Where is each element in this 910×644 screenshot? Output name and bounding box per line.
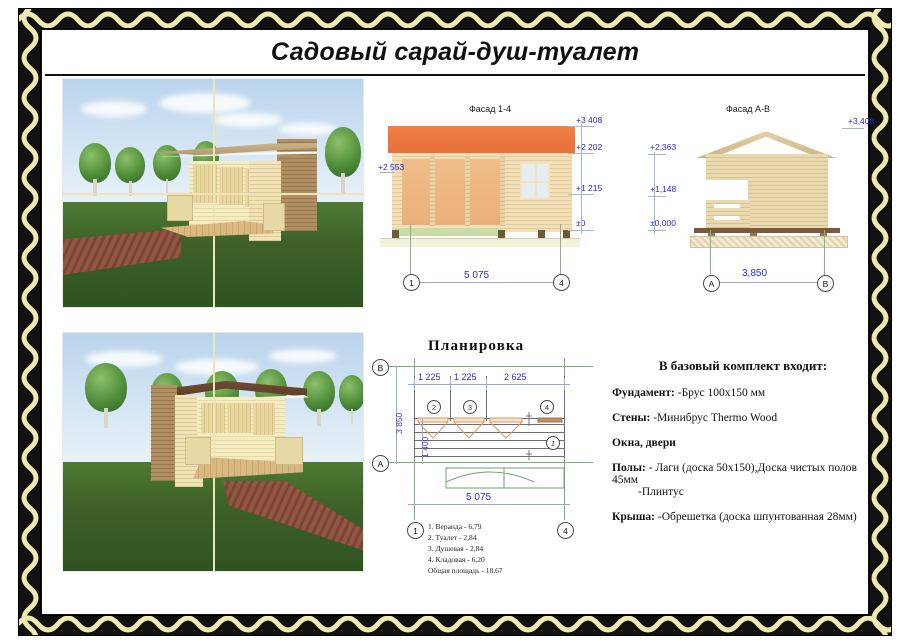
elevation-leader — [648, 154, 666, 155]
facade-ab-wall-main — [748, 154, 828, 232]
facade-1-4-door-1 — [402, 159, 430, 225]
spec-heading: В базовый комплект входит: — [612, 358, 874, 374]
elevation-label-3: +1 215 — [576, 183, 602, 193]
facade-ab-title: Фасад А-В — [688, 104, 808, 114]
axis-bubble-b: B — [817, 275, 834, 292]
plan-dimension-line-top — [408, 384, 570, 385]
facade-1-4-post — [500, 154, 505, 226]
spec-row-windows-doors: Окна, двери — [612, 437, 874, 449]
cabin-door-2 — [227, 403, 251, 433]
tree — [303, 371, 335, 425]
facade-1-4-door-3 — [470, 159, 500, 225]
dimension-line — [404, 282, 566, 283]
facade-ab-rail-slat — [714, 216, 740, 220]
facade-1-4-roof — [388, 126, 575, 153]
facade-ab-dimension: 3,850 — [742, 268, 767, 279]
elevation-label-1: +3 408 — [576, 115, 602, 125]
axis-bubble-1: 1 — [407, 522, 424, 539]
elevation-leader — [648, 230, 666, 231]
legend-item: 1. Веранда - 6,79 — [428, 522, 503, 533]
cabin-left-wall — [151, 385, 177, 481]
plan-dim-tick — [414, 378, 415, 390]
facade-ab-drawing: Фасад А-В +3,408 +2,363 +1,148 ±0,000 A … — [648, 104, 863, 304]
tree — [79, 143, 111, 195]
title-underline — [45, 74, 865, 76]
elevation-label-2: +2 202 — [576, 142, 602, 152]
elevation-label-left: +2 553 — [378, 162, 404, 172]
spec-label: Крыша: — [612, 511, 655, 523]
spec-label: Стены: — [612, 412, 650, 424]
axis-bubble-b: B — [372, 359, 389, 376]
cabin-door-2 — [219, 167, 243, 205]
tree — [339, 375, 364, 423]
elevation-label-top: +3,408 — [848, 116, 874, 126]
spec-row-floors: Полы: - Лаги (доска 50х150),Доска чистых… — [612, 462, 874, 498]
border-ribbon-top — [18, 8, 892, 32]
cloud — [159, 93, 251, 113]
cabin-railing-right — [263, 203, 285, 231]
tree — [115, 147, 145, 195]
plan-dim-bottom: 5 075 — [466, 492, 491, 503]
legend-item: 3. Душевая - 2,84 — [428, 544, 503, 555]
spec-row-foundation: Фундамент: -Брус 100х150 мм — [612, 387, 874, 399]
legend-item: 4. Кладовая - 6,20 — [428, 555, 503, 566]
elevation-leader — [842, 128, 864, 129]
plan-dimension-line-bottom — [408, 504, 570, 505]
tree — [85, 363, 127, 427]
axis-bubble-4: 4 — [557, 522, 574, 539]
spec-label: Окна, двери — [612, 437, 676, 449]
plan-dim-top-3: 2 625 — [504, 372, 527, 382]
drawing-sheet: Садовый сарай-душ-туалет — [0, 0, 910, 644]
spec-value: -Брус 100х150 мм — [675, 387, 765, 399]
plan-dim-tick — [486, 378, 487, 390]
legend-item: Общая площадь - 18,67 — [428, 566, 503, 577]
render-front-view — [62, 78, 364, 308]
facade-1-4-dimension: 5 075 — [464, 270, 489, 281]
cabin-door-3 — [253, 403, 275, 435]
spec-value: - Лаги (доска 50х150),Доска чистых полов… — [612, 462, 857, 486]
spec-subvalue: -Плинтус — [638, 486, 874, 498]
elevation-label-2: +2,363 — [650, 142, 676, 152]
spec-value: -Обрешетка (доска шпунтованная 28мм) — [655, 511, 857, 523]
cabin-railing-right — [275, 437, 303, 465]
room-mark-4: 4 — [540, 400, 554, 414]
plan-dim-top-2: 1 225 — [454, 372, 477, 382]
facade-1-4-window — [520, 162, 550, 200]
render-rear-view — [62, 332, 364, 572]
plan-dim-tick — [564, 378, 565, 390]
room-mark-1: 1 — [546, 436, 560, 450]
axis-bubble-a: A — [703, 275, 720, 292]
spec-row-roof: Крыша: -Обрешетка (доска шпунтованная 28… — [612, 511, 874, 523]
border-ribbon-bottom — [18, 612, 892, 636]
elevation-axis — [654, 152, 655, 234]
plan-dim-vertical-total: 3 850 — [394, 413, 404, 434]
axis-bubble-1: 1 — [403, 274, 420, 291]
spec-row-walls: Стены: -Минибрус Thermo Wood — [612, 412, 874, 424]
page-title: Садовый сарай-душ-туалет — [0, 38, 910, 67]
facade-ab-rail-slat — [714, 204, 740, 208]
facade-1-4-door-2 — [435, 159, 465, 225]
cloud — [269, 349, 337, 363]
border-ribbon-left — [18, 8, 42, 636]
spec-value: -Минибрус Thermo Wood — [650, 412, 777, 424]
cloud — [81, 101, 147, 117]
elevation-leader — [648, 196, 666, 197]
legend-item: 2. Туалет - 2,84 — [428, 533, 503, 544]
elevation-axis — [581, 124, 582, 234]
facade-1-4-post — [465, 154, 470, 226]
plan-room-legend: 1. Веранда - 6,79 2. Туалет - 2,84 3. Ду… — [428, 522, 503, 576]
cabin-railing-left — [185, 437, 211, 465]
dimension-line — [704, 282, 830, 283]
floor-plan-drawing: Планировка — [370, 336, 600, 576]
plan-dim-top-1: 1 225 — [418, 372, 441, 382]
spec-label: Полы: — [612, 462, 646, 474]
cloud — [213, 113, 283, 127]
plan-dim-tick — [450, 378, 451, 390]
facade-1-4-drawing: Фасад 1-4 +3 408 +2 202 +1 215 ±0 +2 553 — [380, 104, 595, 304]
axis-bubble-4: 4 — [553, 274, 570, 291]
facade-ab-slab — [694, 228, 840, 233]
specification-panel: В базовый комплект входит: Фундамент: -Б… — [612, 358, 874, 523]
room-mark-2: 2 — [427, 400, 441, 414]
border-ribbon-right — [868, 8, 892, 636]
room-mark-3: 3 — [463, 400, 477, 414]
facade-1-4-title: Фасад 1-4 — [430, 104, 550, 114]
axis-bubble-a: A — [372, 455, 389, 472]
cabin-railing-left — [167, 195, 193, 221]
elevation-leader — [380, 172, 394, 173]
facade-1-4-post — [430, 154, 435, 226]
spec-label: Фундамент: — [612, 387, 675, 399]
plan-dim-vertical-inner: 1 400 — [420, 437, 430, 458]
tree — [325, 127, 361, 193]
